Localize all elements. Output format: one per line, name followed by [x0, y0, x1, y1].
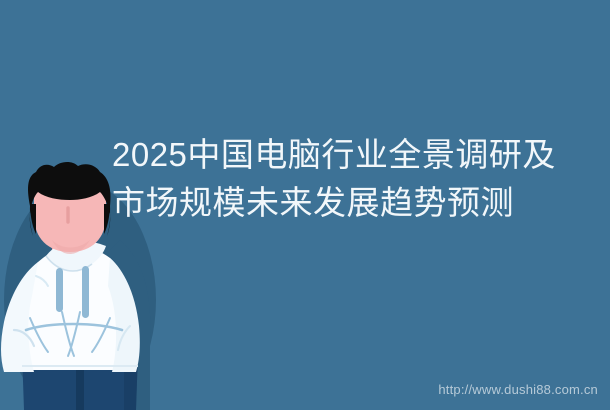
title-line-1: 2025中国电脑行业全景调研及 [112, 131, 582, 179]
watermark-url: http://www.dushi88.com.cn [438, 382, 598, 397]
promo-banner: 2025中国电脑行业全景调研及 市场规模未来发展趋势预测 http://www.… [0, 0, 610, 410]
banner-title: 2025中国电脑行业全景调研及 市场规模未来发展趋势预测 [112, 131, 582, 227]
title-line-2: 市场规模未来发展趋势预测 [112, 179, 582, 227]
